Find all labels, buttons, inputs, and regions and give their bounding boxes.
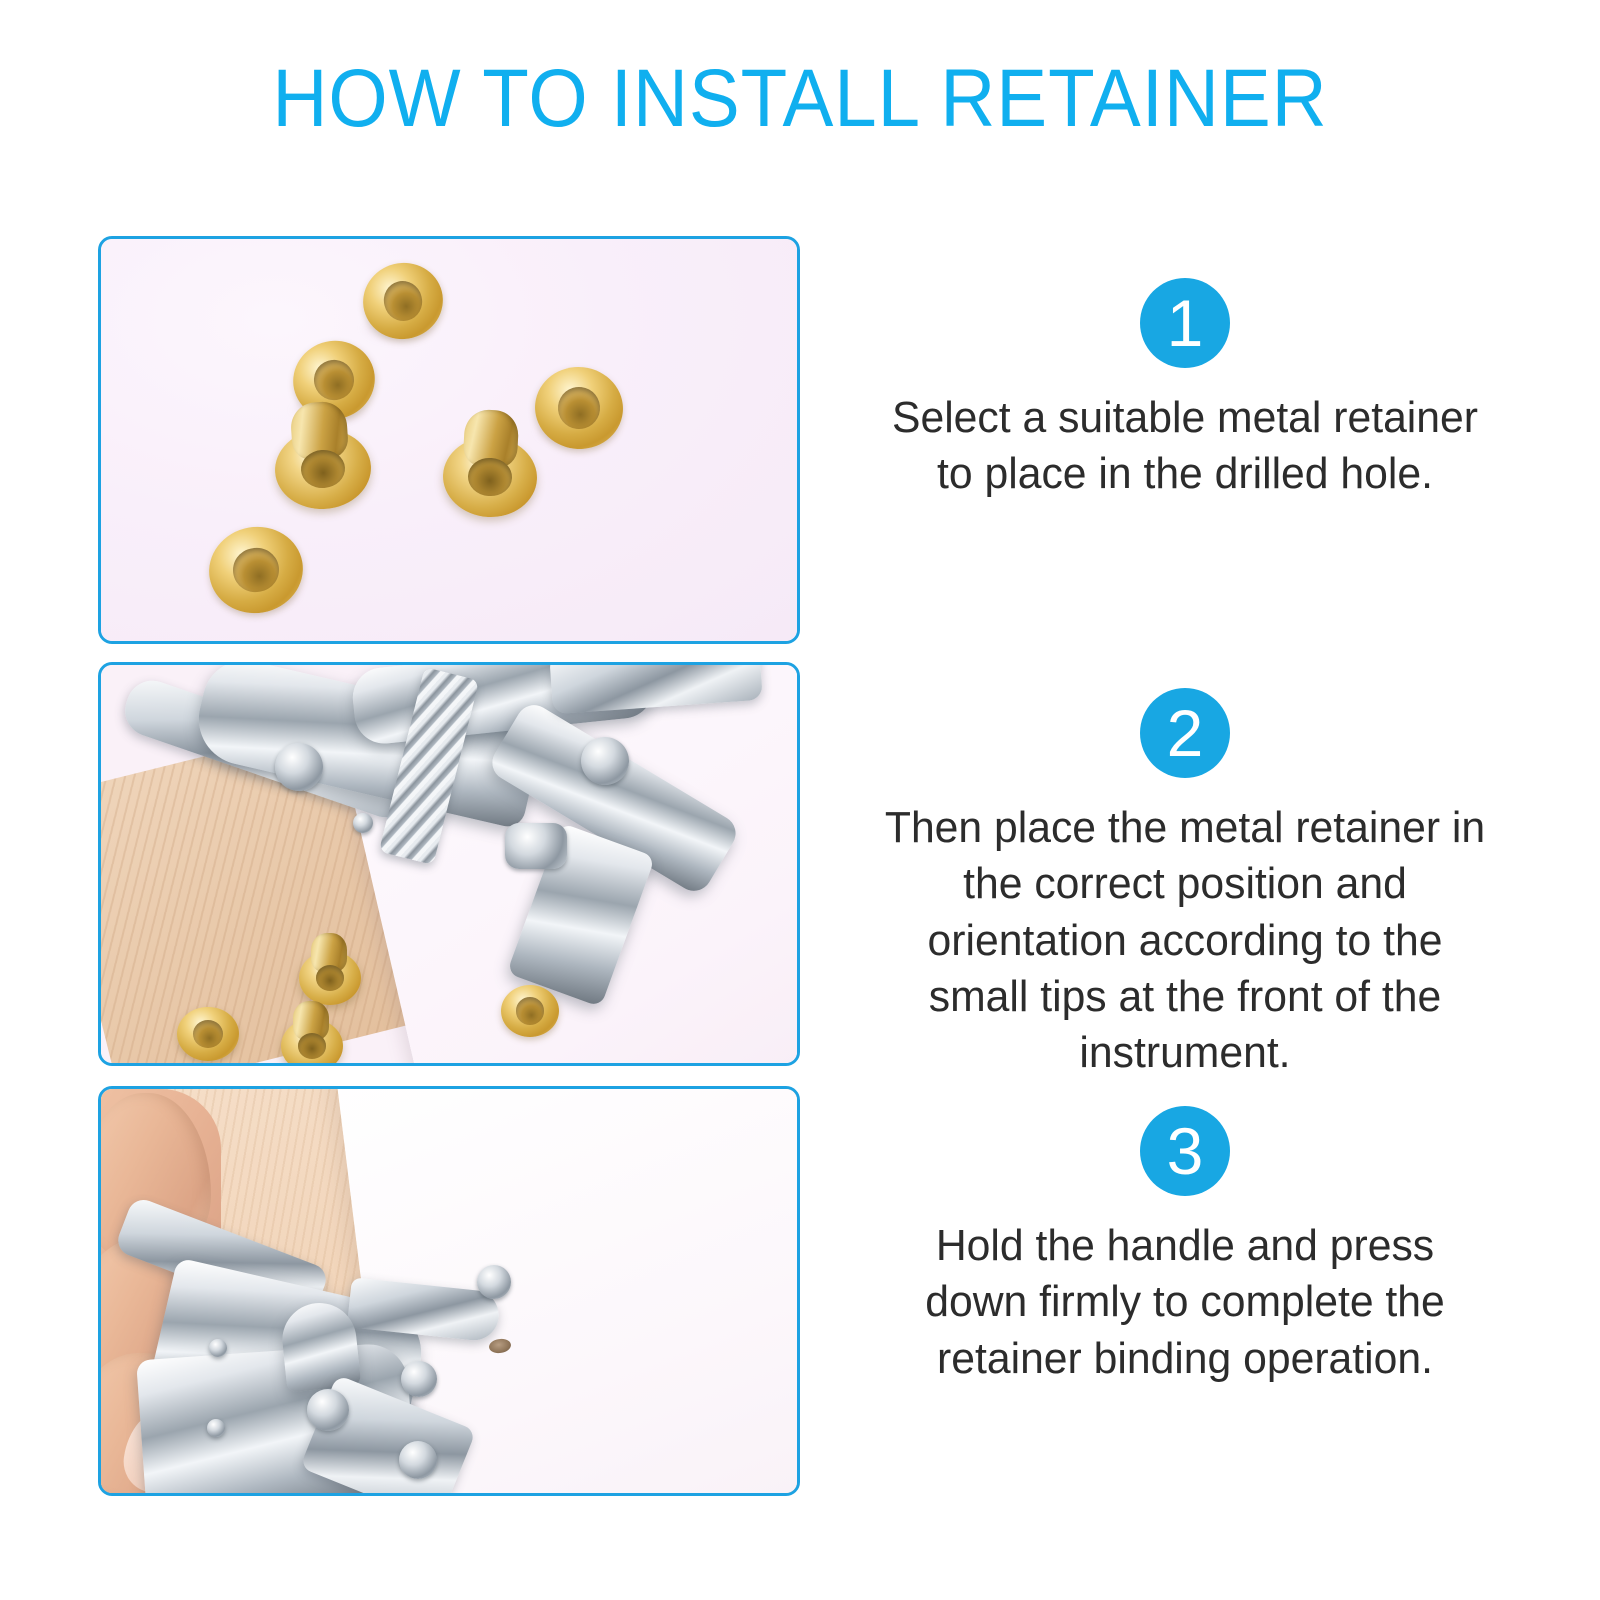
tool-screw [353,813,373,833]
step-row-1: 1 Select a suitable metal retainer to pl… [0,236,1600,644]
step-row-2: 2 Then place the metal retainer in the c… [0,662,1600,1066]
grommet-barrel-view [299,951,361,1005]
tool-punch-tip [505,823,567,869]
tool-small-screw [207,1419,225,1437]
step-3-description: Hold the handle and press down firmly to… [894,1218,1476,1387]
step-2-description: Then place the metal retainer in the cor… [884,800,1485,1082]
step-3-number-badge: 3 [1140,1106,1230,1196]
step-1-text-column: 1 Select a suitable metal retainer to pl… [840,236,1530,644]
step-2-number-badge: 2 [1140,688,1230,778]
grommet-barrel-view [281,1019,343,1066]
tool-screw [401,1361,437,1397]
step-1-photo-panel [98,236,800,644]
tool-jaw-rivet [477,1265,511,1299]
step-3-photo-panel [98,1086,800,1496]
step-1-number-badge: 1 [1140,278,1230,368]
tool-small-screw [209,1339,227,1357]
grommet-top-view [177,1007,239,1061]
step-row-3: 3 Hold the handle and press down firmly … [0,1086,1600,1496]
steps-container: 1 Select a suitable metal retainer to pl… [0,0,1600,1600]
step-2-photo-panel [98,662,800,1066]
step-2-text-column: 2 Then place the metal retainer in the c… [840,662,1530,1066]
step-1-description: Select a suitable metal retainer to plac… [870,390,1501,503]
tool-pivot-rivet [307,1389,349,1431]
tool-screw [399,1441,437,1479]
tool-die-rivet [581,737,629,785]
grommet-top-view [501,985,559,1037]
step-3-text-column: 3 Hold the handle and press down firmly … [840,1086,1530,1496]
tool-pivot-rivet [275,743,323,791]
panel-1-background [101,239,797,641]
